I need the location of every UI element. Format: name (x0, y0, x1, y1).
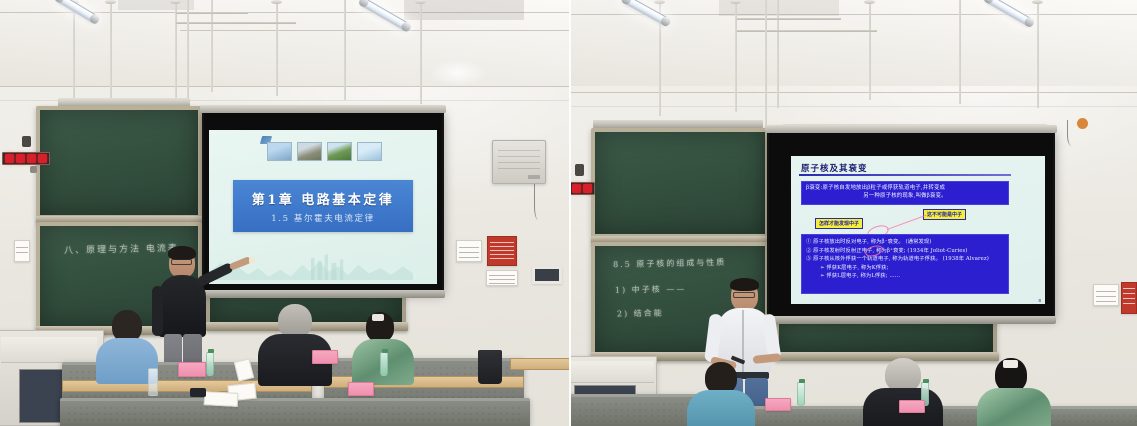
rod-cap (864, 0, 875, 4)
screen-top-bar (200, 105, 446, 113)
glass-cup (148, 368, 158, 396)
slide-nuclear-decay: 原子核及其衰变 β衰变:原子核自发地放出β粒子或俘获轨道电子,并转变成 另一种原… (791, 156, 1045, 304)
slide-thumbnails (267, 142, 382, 161)
screen-bottom-bar (201, 290, 445, 298)
rod-cap (1032, 0, 1043, 4)
hanger-rod (73, 0, 75, 104)
ac-cable (534, 184, 544, 220)
light-glare (430, 60, 486, 86)
rod-cap (415, 0, 426, 4)
hanger-rod (211, 0, 213, 92)
hanger-crossbar (737, 18, 841, 20)
slide-subtitle: 1.5 基尔霍夫电流定律 (271, 212, 374, 224)
pink-name-card (178, 362, 206, 377)
dark-panel-sign (532, 266, 562, 284)
water-bottle (380, 352, 388, 376)
lecturer-glasses (733, 292, 755, 298)
blackboard-right-upper (591, 128, 769, 238)
rod-cap (170, 0, 181, 4)
observer-torso (687, 390, 755, 426)
chalk-line-2: 1) 中子核 —— (615, 283, 687, 295)
hair-clip (372, 314, 384, 321)
hanger-rod (959, 0, 961, 104)
hanger-rod (110, 0, 112, 108)
content-bullet-1: ➢ 俘获K层电子, 称为K俘获; (806, 264, 1004, 273)
wall-trim (569, 106, 1137, 107)
content-box: ① 原子核放出时反对电子, 称为β⁻衰变。 (通常发现) ② 原子核发射时反射正… (801, 234, 1009, 294)
slide-title: 第1章 电路基本定律 (252, 189, 395, 208)
rod-cap (105, 0, 116, 4)
chalk-line-3: 2) 结合能 (617, 308, 664, 320)
led-display-left (2, 152, 50, 165)
paper-sheet (204, 391, 239, 407)
observer-grey-hair (256, 304, 336, 382)
hanger-crossbar (176, 22, 296, 24)
observer-head (885, 358, 921, 392)
hanger-rod (420, 0, 422, 104)
lecturer-hair (168, 246, 196, 260)
white-notice-sign (456, 240, 482, 262)
water-bottle (797, 382, 805, 406)
hanger-rod (175, 0, 177, 106)
motion-sensor (575, 164, 584, 176)
content-bullet-2: ➢ 俘获L层电子, 称为L俘获; …… (806, 272, 1004, 281)
chalk-line-1: 8.5 原子核的组成与性质 (613, 257, 726, 270)
projector-screen-right: 原子核及其衰变 β衰变:原子核自发地放出β粒子或俘获轨道电子,并转变成 另一种原… (767, 130, 1055, 318)
pink-name-card (348, 382, 374, 396)
phone (190, 388, 206, 397)
lectern-top (1, 337, 97, 363)
lecturer-hair (730, 278, 759, 291)
hanger-crossbar (737, 30, 877, 32)
ceiling-panel (118, 0, 194, 10)
hanger-rod (276, 0, 278, 96)
hanger-rod (1037, 0, 1039, 108)
bench-row-3 (60, 398, 530, 426)
red-warning-sign (1121, 282, 1137, 314)
led-display-right (569, 182, 595, 195)
definition-line-1: β衰变:原子核自发地放出β粒子或俘获轨道电子,并转变成 (806, 184, 1004, 192)
observer-torso (977, 388, 1051, 426)
hanger-rod (735, 0, 737, 112)
content-item-3: ③ 原子核从核外俘获一个轨道电子, 称为轨道电子俘获。 (1938年 Alvar… (806, 255, 1004, 264)
classroom-left-photo: 八、原理与方法 电流表 第1章 电路基本定律 1.5 基尔霍夫电流 (0, 0, 569, 426)
observer-silver-hair (861, 358, 947, 426)
chalk-piece (249, 258, 255, 263)
rod-cap (271, 0, 282, 4)
sailboat-thumb (357, 142, 382, 161)
wall-switch (30, 166, 37, 173)
hair-clip (1003, 360, 1018, 368)
rod-cap (654, 0, 665, 4)
wall-ceiling-joint (569, 92, 1137, 93)
content-item-1: ① 原子核放出时反对电子, 称为β⁻衰变。 (通常发现) (806, 238, 1004, 247)
photo-collage: 八、原理与方法 电流表 第1章 电路基本定律 1.5 基尔霍夫电流 (0, 0, 1137, 426)
rod-cap (730, 0, 741, 4)
annotation-leader-line (887, 215, 927, 230)
content-item-2: ② 原子核发射时反射正电子, 称为β⁺衰变; (1934年 Joliot-Cur… (806, 247, 1004, 256)
definition-box: β衰变:原子核自发地放出β粒子或俘获轨道电子,并转变成 另一种原子核的现象,叫做… (801, 181, 1009, 205)
info-sign-small (1093, 284, 1119, 306)
board-light-bar (593, 120, 763, 128)
water-bottle (206, 352, 214, 376)
island-thumb (327, 142, 352, 161)
yellow-tag-right: 这不可能是中子 (923, 209, 966, 220)
ceiling-seam (180, 30, 569, 31)
classroom-right-photo: 8.5 原子核的组成与性质 1) 中子核 —— 2) 结合能 原子核及其衰变 β… (569, 0, 1137, 426)
hanger-rod (344, 0, 346, 100)
observer-teal-shirt (685, 362, 759, 426)
airplane-thumb (267, 142, 292, 161)
pink-name-card (312, 350, 338, 364)
desk-surface-3 (510, 358, 569, 370)
small-notice-left (14, 240, 30, 262)
motion-sensor (22, 136, 31, 147)
wall-cable (1067, 120, 1079, 146)
slide-title: 原子核及其衰变 (801, 162, 868, 174)
slide-title-box: 第1章 电路基本定律 1.5 基尔霍夫电流定律 (233, 180, 413, 232)
hanger-rod (777, 0, 779, 108)
screen-top-bar (765, 125, 1057, 133)
lectern-top (569, 361, 654, 383)
title-underline (799, 174, 1011, 176)
small-info-sign (486, 270, 518, 286)
screen-bottom-bar (766, 316, 1056, 324)
trash-bin (478, 350, 502, 384)
yellow-tag-left: 怎样才能发现中子 (815, 218, 863, 229)
hanger-rod (869, 0, 871, 100)
slide-page-number: 8 (1038, 298, 1041, 303)
lecturer-glasses (171, 259, 192, 265)
collage-divider (569, 0, 571, 426)
bridge-thumb (297, 142, 322, 161)
wall-air-conditioner (492, 140, 546, 184)
observer-floral-green (977, 358, 1055, 426)
pink-name-card (765, 398, 791, 411)
pink-name-card (899, 400, 925, 413)
definition-line-2: 另一种原子核的现象,叫做β衰变。 (806, 192, 1004, 200)
blackboard-left-upper (36, 106, 202, 219)
red-warning-sign (487, 236, 517, 266)
observer-head (278, 304, 312, 338)
wall-ceiling-joint (0, 86, 569, 87)
